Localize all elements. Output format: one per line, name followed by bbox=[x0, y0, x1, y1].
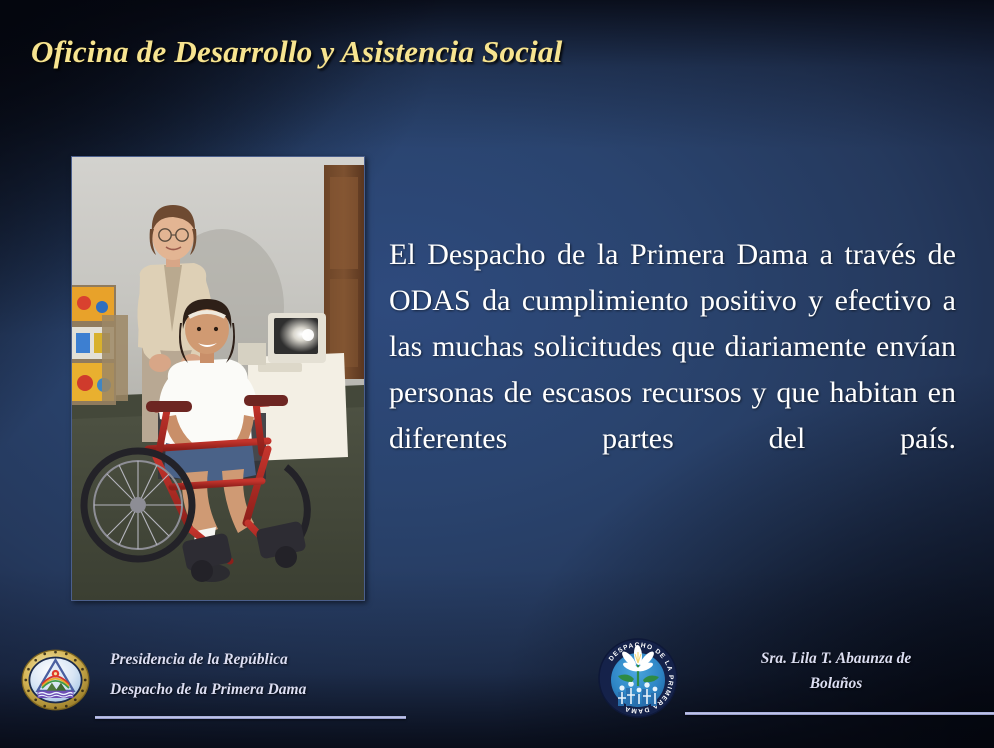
logo-despacho-primera-dama-icon: DESPACHO DE LA PRIMERA DAMA bbox=[598, 638, 678, 718]
footer-right-text: Sra. Lila T. Abaunza de Bolaños bbox=[700, 646, 972, 696]
escudo-nacional-svg bbox=[17, 644, 94, 716]
footer-divider-left bbox=[95, 716, 406, 719]
footer-left-text: Presidencia de la República Despacho de … bbox=[110, 645, 410, 705]
slide-photo bbox=[71, 156, 365, 601]
footer-left-line1: Presidencia de la República bbox=[110, 645, 410, 675]
despacho-primera-dama-svg: DESPACHO DE LA PRIMERA DAMA bbox=[598, 638, 678, 718]
presentation-slide: Oficina de Desarrollo y Asistencia Socia… bbox=[0, 0, 994, 748]
footer-left-line2: Despacho de la Primera Dama bbox=[110, 675, 410, 705]
slide-title: Oficina de Desarrollo y Asistencia Socia… bbox=[31, 34, 562, 70]
footer-divider-right bbox=[685, 712, 994, 715]
photo-illustration bbox=[72, 157, 364, 600]
escudo-nacional-nicaragua-icon bbox=[17, 644, 94, 716]
footer-right-line2: Bolaños bbox=[700, 671, 972, 696]
slide-body-text: El Despacho de la Primera Dama a través … bbox=[389, 232, 956, 508]
footer-right-line1: Sra. Lila T. Abaunza de bbox=[700, 646, 972, 671]
